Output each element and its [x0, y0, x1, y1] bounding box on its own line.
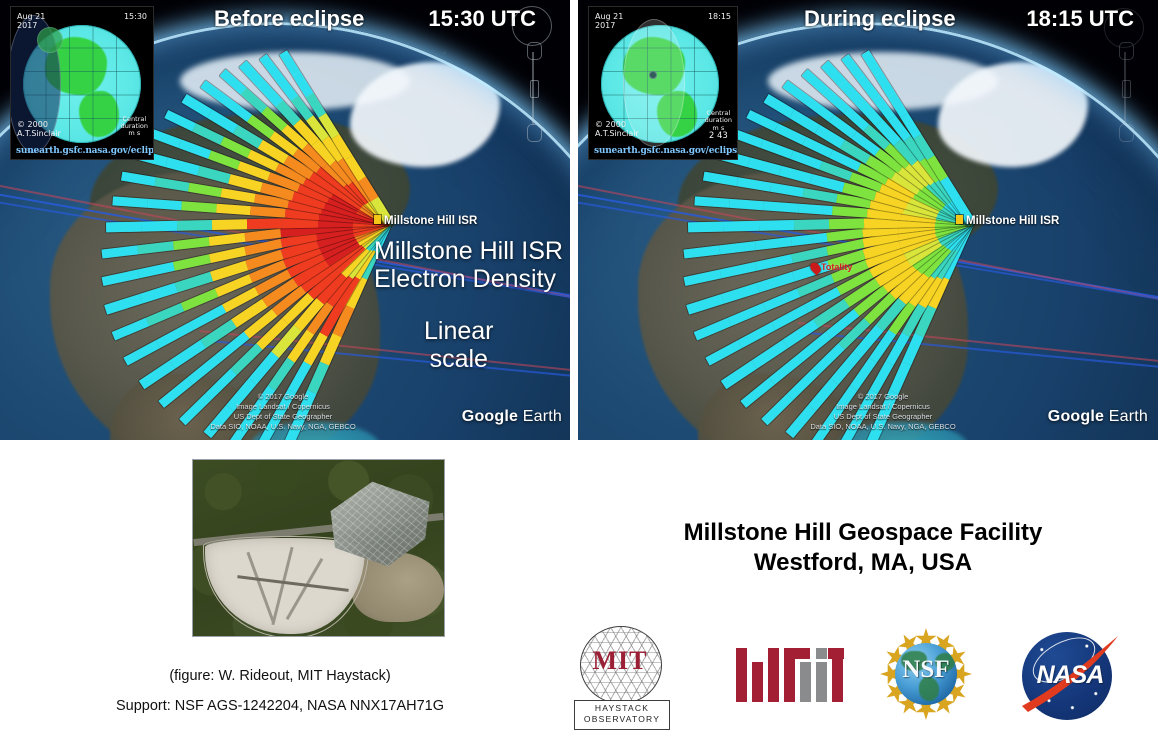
inset-time: 18:15 — [708, 13, 731, 22]
inset-umbra-spot — [649, 71, 657, 79]
totality-marker-label: Totality — [821, 262, 852, 272]
zoom-slider-knob[interactable] — [530, 80, 539, 98]
millstone-hill-radar-photo — [192, 459, 445, 637]
facility-title: Millstone Hill Geospace Facility Westfor… — [568, 518, 1158, 578]
inset-central-duration: Central duration m s — [121, 116, 148, 137]
globe-panel-during: Aug 212017 18:15 © 2000A.T.Sinclair Cent… — [578, 0, 1158, 440]
inset-url: sunearth.gsfc.nasa.gov/eclipse — [594, 146, 738, 156]
nsf-wordmark: NSF — [880, 656, 972, 684]
haystack-mit-wordmark: MIT — [574, 646, 666, 676]
linear-scale-overlay-label: Linear scale — [424, 317, 494, 373]
nasa-wordmark: NASA — [1020, 661, 1120, 690]
mit-bar-8 — [816, 648, 827, 659]
haystack-nameplate: HAYSTACK OBSERVATORY — [574, 700, 670, 730]
support-caption: Support: NSF AGS-1242204, NASA NNX17AH71… — [0, 698, 560, 714]
beam-range-gate — [723, 221, 758, 232]
mit-bar-10 — [828, 648, 844, 659]
inset-date: Aug 212017 — [17, 13, 45, 31]
nsf-logo: NSF — [880, 628, 972, 720]
mit-bar-6 — [800, 662, 811, 702]
beam-range-gate — [176, 220, 211, 231]
inset-time: 15:30 — [124, 13, 147, 22]
inset-copyright: © 2000A.T.Sinclair — [17, 121, 61, 139]
millstone-hill-site-label: Millstone Hill ISR — [384, 215, 477, 227]
mit-logo: MIT — [736, 640, 844, 702]
google-earth-watermark-before: Google Earth — [462, 408, 562, 426]
logo-row: MIT HAYSTACK OBSERVATORY MIT — [568, 624, 1158, 730]
mit-haystack-observatory-logo: MIT HAYSTACK OBSERVATORY — [574, 624, 674, 724]
google-earth-watermark-during: Google Earth — [1048, 408, 1148, 426]
inset-date: Aug 212017 — [595, 13, 623, 31]
inset-central-duration: Central duration m s 2 43 — [705, 110, 732, 141]
zoom-in-button[interactable] — [527, 42, 542, 60]
haystack-line-2: OBSERVATORY — [575, 714, 669, 725]
inset-copyright: © 2000A.T.Sinclair — [595, 121, 639, 139]
photo-credit-caption: (figure: W. Rideout, MIT Haystack) — [0, 668, 560, 684]
beam-range-gate — [212, 219, 247, 230]
mit-bar-3 — [768, 648, 779, 702]
beam-range-gate — [688, 222, 723, 233]
millstone-hill-site-pin — [374, 215, 381, 224]
haystack-line-1: HAYSTACK — [575, 703, 669, 714]
nasa-logo: NASA — [1020, 628, 1120, 724]
beam-range-gate — [758, 220, 793, 231]
eclipse-inset-map: Aug 212017 18:15 © 2000A.T.Sinclair Cent… — [588, 6, 738, 160]
inset-umbra-spot — [37, 27, 63, 53]
zoom-slider[interactable] — [1119, 42, 1132, 142]
inset-url: sunearth.gsfc.nasa.gov/eclipse — [16, 146, 154, 156]
mit-bar-2 — [752, 662, 763, 702]
beam-range-gate — [106, 222, 141, 233]
electron-density-overlay-title: Millstone Hill ISR Electron Density — [374, 237, 563, 293]
zoom-out-button[interactable] — [1119, 124, 1134, 142]
zoom-slider[interactable] — [527, 42, 540, 142]
slide-root: Aug 212017 15:30 © 2000A.T.Sinclair Cent… — [0, 0, 1158, 730]
beam-range-gate — [247, 218, 282, 229]
globe-panel-before: Aug 212017 15:30 © 2000A.T.Sinclair Cent… — [0, 0, 570, 440]
millstone-hill-site-pin — [956, 215, 963, 224]
eclipse-inset-map: Aug 212017 15:30 © 2000A.T.Sinclair Cent… — [10, 6, 154, 160]
millstone-hill-site-label: Millstone Hill ISR — [966, 215, 1059, 227]
mit-bar-5 — [784, 648, 810, 659]
mit-bar-7 — [816, 662, 827, 702]
map-attribution-during: © 2017 Google Image Landsat / Copernicus… — [768, 392, 998, 433]
zoom-out-button[interactable] — [527, 124, 542, 142]
beam-range-gate — [829, 218, 864, 229]
beam-range-gate — [794, 219, 829, 230]
zoom-slider-knob[interactable] — [1122, 80, 1131, 98]
beam-range-gate — [141, 221, 176, 232]
navigation-compass-icon[interactable] — [512, 6, 552, 46]
panel-title-during: During eclipse — [804, 6, 956, 32]
zoom-in-button[interactable] — [1119, 42, 1134, 60]
map-attribution-before: © 2017 Google Image Landsat / Copernicus… — [168, 392, 398, 433]
mit-bar-1 — [736, 648, 747, 702]
panel-title-before: Before eclipse — [214, 6, 364, 32]
